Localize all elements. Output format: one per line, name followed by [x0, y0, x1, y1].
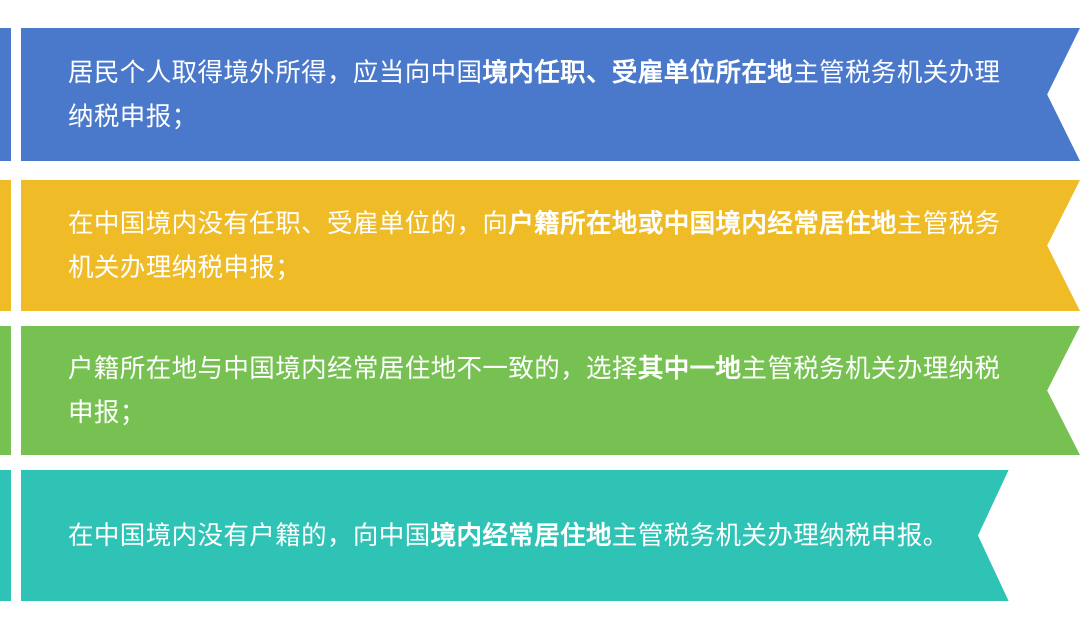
- ribbon-banner-4: 在中国境内没有户籍的，向中国境内经常居住地主管税务机关办理纳税申报。: [21, 470, 1009, 601]
- infographic-canvas: 居民个人取得境外所得，应当向中国境内任职、受雇单位所在地主管税务机关办理纳税申报…: [0, 0, 1080, 626]
- banner-2-bold-phrase: 户籍所在地或中国境内经常居住地: [508, 210, 897, 238]
- banner-row-3: 户籍所在地与中国境内经常居住地不一致的，选择其中一地主管税务机关办理纳税申报；: [0, 326, 1080, 455]
- banner-row-4: 在中国境内没有户籍的，向中国境内经常居住地主管税务机关办理纳税申报。: [0, 470, 1009, 601]
- banner-text-1: 居民个人取得境外所得，应当向中国境内任职、受雇单位所在地主管税务机关办理纳税申报…: [21, 51, 1080, 139]
- banner-2-plain-prefix: 在中国境内没有任职、受雇单位的，向: [68, 210, 508, 238]
- accent-gap-1: [11, 28, 21, 161]
- ribbon-banner-2: 在中国境内没有任职、受雇单位的，向户籍所在地或中国境内经常居住地主管税务机关办理…: [21, 180, 1080, 311]
- banner-text-3: 户籍所在地与中国境内经常居住地不一致的，选择其中一地主管税务机关办理纳税申报；: [21, 347, 1080, 435]
- accent-gap-2: [11, 180, 21, 311]
- ribbon-banner-1: 居民个人取得境外所得，应当向中国境内任职、受雇单位所在地主管税务机关办理纳税申报…: [21, 28, 1080, 161]
- banner-1-plain-prefix: 居民个人取得境外所得，应当向中国: [68, 59, 482, 87]
- banner-text-2: 在中国境内没有任职、受雇单位的，向户籍所在地或中国境内经常居住地主管税务机关办理…: [21, 202, 1080, 290]
- accent-gap-4: [11, 470, 21, 601]
- accent-bar-4: [0, 470, 11, 601]
- accent-bar-3: [0, 326, 11, 455]
- banner-4-plain-suffix: 主管税务机关办理纳税申报。: [612, 522, 949, 550]
- accent-bar-2: [0, 180, 11, 311]
- banner-3-plain-prefix: 户籍所在地与中国境内经常居住地不一致的，选择: [68, 355, 638, 383]
- banner-1-bold-phrase: 境内任职、受雇单位所在地: [482, 59, 793, 87]
- accent-gap-3: [11, 326, 21, 455]
- banner-text-4: 在中国境内没有户籍的，向中国境内经常居住地主管税务机关办理纳税申报。: [21, 514, 1009, 558]
- banner-4-plain-prefix: 在中国境内没有户籍的，向中国: [68, 522, 431, 550]
- ribbon-banner-3: 户籍所在地与中国境内经常居住地不一致的，选择其中一地主管税务机关办理纳税申报；: [21, 326, 1080, 455]
- banner-3-bold-phrase: 其中一地: [638, 355, 742, 383]
- banner-row-2: 在中国境内没有任职、受雇单位的，向户籍所在地或中国境内经常居住地主管税务机关办理…: [0, 180, 1080, 311]
- accent-bar-1: [0, 28, 11, 161]
- banner-4-bold-phrase: 境内经常居住地: [431, 522, 612, 550]
- banner-row-1: 居民个人取得境外所得，应当向中国境内任职、受雇单位所在地主管税务机关办理纳税申报…: [0, 28, 1080, 161]
